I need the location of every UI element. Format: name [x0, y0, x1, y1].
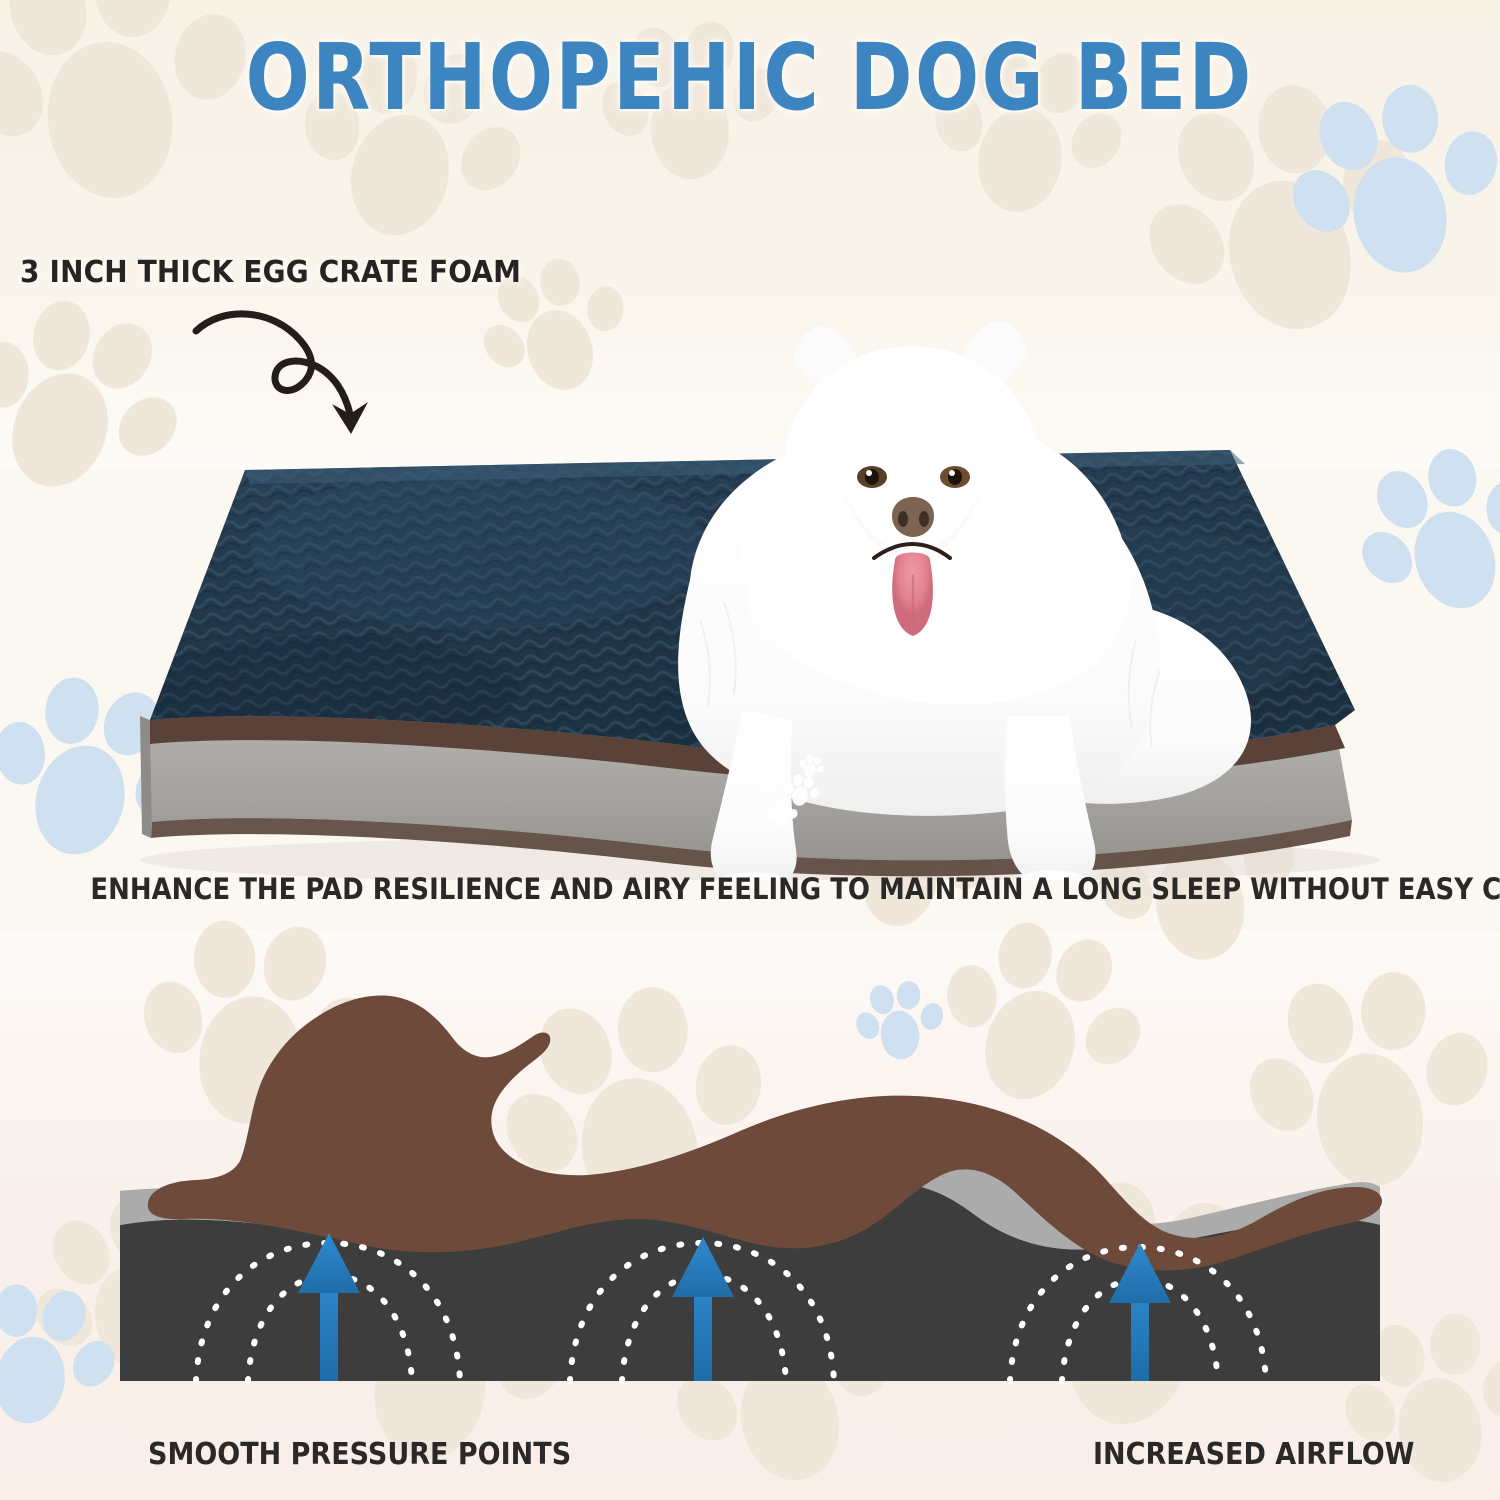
cross-section-diagram: [0, 975, 1500, 1405]
label-smooth-pressure-points: SMOOTH PRESSURE POINTS: [148, 1437, 618, 1472]
label-smooth-pressure-points-text: SMOOTH PRESSURE POINTS: [148, 1437, 571, 1472]
label-increased-airflow: INCREASED AIRFLOW: [1093, 1437, 1450, 1472]
bed-caption-text: ENHANCE THE PAD RESILIENCE AND AIRY FEEL…: [90, 872, 1500, 906]
infographic-page: ORTHOPEHIC DOG BED 3 INCH THICK EGG CRAT…: [0, 0, 1500, 1500]
page-title-container: ORTHOPEHIC DOG BED: [0, 24, 1500, 131]
curved-arrow-down-right-icon: [182, 298, 402, 458]
label-increased-airflow-text: INCREASED AIRFLOW: [1093, 1437, 1414, 1472]
page-title: ORTHOPEHIC DOG BED: [246, 24, 1254, 131]
bed-caption: ENHANCE THE PAD RESILIENCE AND AIRY FEEL…: [0, 872, 1500, 906]
foam-callout-label: 3 INCH THICK EGG CRATE FOAM: [20, 255, 521, 290]
